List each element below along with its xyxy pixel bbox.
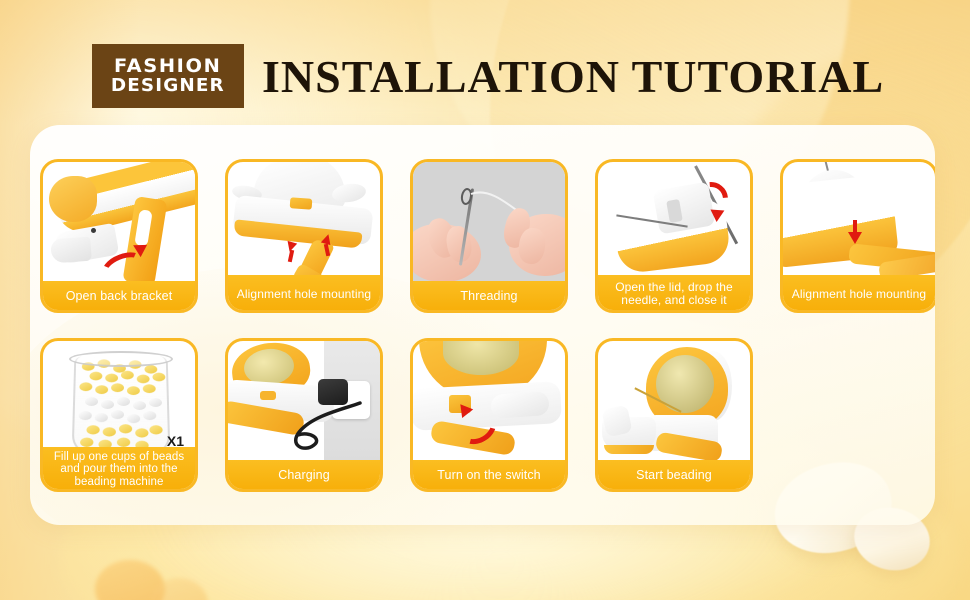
red-arrow-head-icon: [848, 232, 862, 244]
bead-cup-rim: [69, 351, 173, 367]
badge-line-designer: DESIGNER: [111, 77, 225, 96]
step-card-threading[interactable]: Threading: [410, 159, 568, 313]
step-card-open-lid-drop-needle[interactable]: Open the lid, drop the needle, and close…: [595, 159, 753, 313]
charging-cable: [274, 399, 366, 461]
step-card-start-beading[interactable]: Start beading: [595, 338, 753, 492]
page-header: FASHION DESIGNER INSTALLATION TUTORIAL: [0, 34, 970, 118]
step-card-turn-on-switch[interactable]: Turn on the switch: [410, 338, 568, 492]
step-caption: Threading: [410, 281, 568, 313]
fashion-designer-badge: FASHION DESIGNER: [92, 44, 244, 108]
page-title: INSTALLATION TUTORIAL: [262, 50, 884, 103]
step-card-alignment-hole-mounting-1[interactable]: Alignment hole mounting: [225, 159, 383, 313]
steps-panel: Open back bracket Al: [30, 125, 935, 525]
badge-line-fashion: FASHION: [114, 57, 222, 77]
steps-grid: Open back bracket Al: [30, 125, 935, 525]
step-caption: Start beading: [595, 460, 753, 492]
step-caption: Alignment hole mounting: [225, 275, 383, 313]
step-caption: Open back bracket: [40, 281, 198, 313]
step-card-fill-beads[interactable]: X1 Fill up one cups of beads and pour th…: [40, 338, 198, 492]
red-arrow-shaft: [288, 250, 294, 263]
step-card-alignment-hole-mounting-2[interactable]: Alignment hole mounting: [780, 159, 935, 313]
step-caption: Turn on the switch: [410, 460, 568, 492]
bead-cup: [72, 356, 171, 454]
red-arrow-head-icon: [710, 210, 725, 223]
step-card-charging[interactable]: Charging: [225, 338, 383, 492]
steps-row-2: X1 Fill up one cups of beads and pour th…: [38, 338, 927, 492]
step-caption: Alignment hole mounting: [780, 275, 935, 313]
steps-row-1: Open back bracket Al: [38, 159, 927, 313]
step-caption: Open the lid, drop the needle, and close…: [595, 275, 753, 313]
step-caption: Charging: [225, 460, 383, 492]
step-card-open-back-bracket[interactable]: Open back bracket: [40, 159, 198, 313]
step-caption: Fill up one cups of beads and pour them …: [40, 447, 198, 492]
beads-fill: [74, 356, 169, 452]
quantity-badge: X1: [167, 433, 184, 449]
